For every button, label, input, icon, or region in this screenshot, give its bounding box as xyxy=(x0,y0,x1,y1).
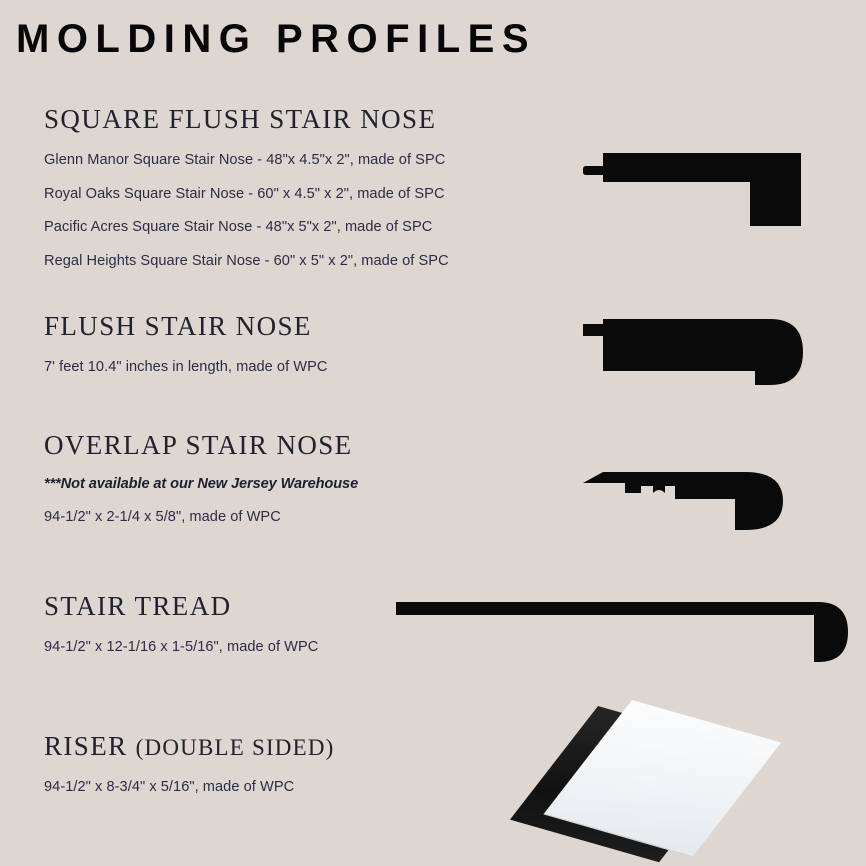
list-item: 94-1/2" x 2-1/4 x 5/8", made of WPC xyxy=(44,509,358,525)
list-item: 94-1/2" x 8-3/4" x 5/16", made of WPC xyxy=(44,779,294,795)
section-heading-overlap-stair-nose: OVERLAP STAIR NOSE xyxy=(44,430,353,461)
section-lines-stair-tread: 94-1/2" x 12-1/16 x 1-5/16", made of WPC xyxy=(44,639,318,655)
list-item: 94-1/2" x 12-1/16 x 1-5/16", made of WPC xyxy=(44,639,318,655)
riser-double-sided-image xyxy=(588,700,838,850)
flush-stair-nose-profile xyxy=(583,314,808,392)
stair-tread-profile xyxy=(396,596,856,666)
section-heading-flush-stair-nose: FLUSH STAIR NOSE xyxy=(44,311,312,342)
section-lines-overlap-stair-nose: ***Not available at our New Jersey Wareh… xyxy=(44,476,358,525)
section-heading-riser-double-sided: RISER (DOUBLE SIDED) xyxy=(44,731,335,762)
overlap-stair-nose-profile xyxy=(583,450,808,530)
list-item: Regal Heights Square Stair Nose - 60" x … xyxy=(44,253,449,269)
list-item: Royal Oaks Square Stair Nose - 60" x 4.5… xyxy=(44,186,449,202)
riser-heading-parenthetical: (DOUBLE SIDED) xyxy=(136,735,335,760)
section-lines-flush-stair-nose: 7' feet 10.4" inches in length, made of … xyxy=(44,359,328,375)
square-flush-stair-nose-profile xyxy=(583,148,808,228)
list-item: 7' feet 10.4" inches in length, made of … xyxy=(44,359,328,375)
riser-heading-main: RISER xyxy=(44,731,136,761)
list-item: Glenn Manor Square Stair Nose - 48"x 4.5… xyxy=(44,152,449,168)
molding-profiles-page: MOLDING PROFILES SQUARE FLUSH STAIR NOSE… xyxy=(0,0,866,866)
availability-note: ***Not available at our New Jersey Wareh… xyxy=(44,476,358,492)
section-lines-square-flush-stair-nose: Glenn Manor Square Stair Nose - 48"x 4.5… xyxy=(44,152,449,269)
page-title: MOLDING PROFILES xyxy=(16,18,536,60)
section-heading-stair-tread: STAIR TREAD xyxy=(44,591,232,622)
list-item: Pacific Acres Square Stair Nose - 48"x 5… xyxy=(44,219,449,235)
section-lines-riser-double-sided: 94-1/2" x 8-3/4" x 5/16", made of WPC xyxy=(44,779,294,795)
section-heading-square-flush-stair-nose: SQUARE FLUSH STAIR NOSE xyxy=(44,104,436,135)
